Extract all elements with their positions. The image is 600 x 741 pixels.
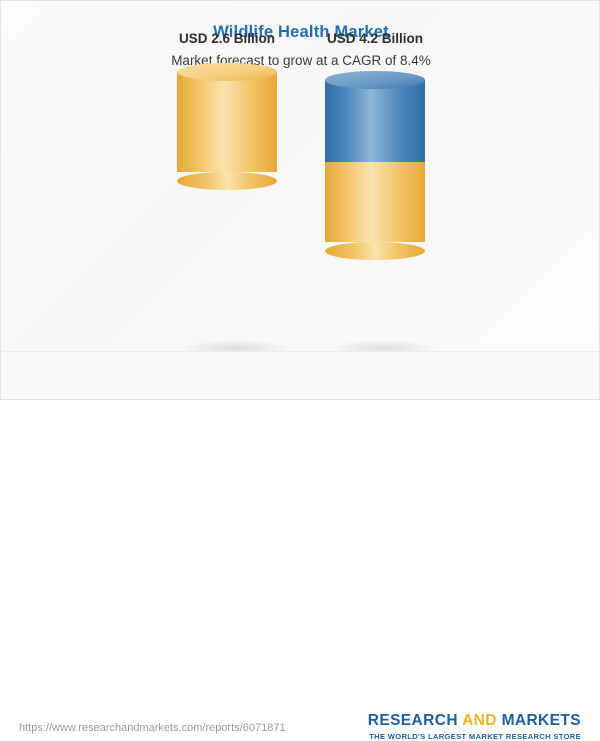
value-label-2024: USD 2.6 Billion bbox=[151, 31, 303, 46]
logo-wordmark: RESEARCH AND MARKETS bbox=[368, 712, 581, 730]
value-label-2030: USD 4.2 Billion bbox=[299, 31, 451, 46]
chart-card: Wildlife Health Market Market forecast t… bbox=[0, 0, 600, 400]
cylinder-2030-growth bbox=[325, 71, 425, 162]
plot-area: USD 2.6 Billion 2024 USD 4.2 Billion 203… bbox=[1, 1, 600, 351]
bar-group-2030: USD 4.2 Billion 2030 bbox=[325, 43, 425, 351]
cylinder-body bbox=[325, 80, 425, 162]
research-and-markets-logo[interactable]: RESEARCH AND MARKETS THE WORLD'S LARGEST… bbox=[368, 712, 581, 741]
cylinder-top-cap bbox=[177, 63, 277, 81]
cylinder-bottom-cap bbox=[325, 242, 425, 260]
bar-group-2024: USD 2.6 Billion 2024 bbox=[177, 43, 277, 351]
logo-word-and: AND bbox=[462, 712, 497, 729]
source-url-link[interactable]: https://www.researchandmarkets.com/repor… bbox=[19, 722, 286, 734]
footer: https://www.researchandmarkets.com/repor… bbox=[1, 352, 599, 399]
logo-word-markets: MARKETS bbox=[502, 712, 581, 729]
cylinder-top-cap bbox=[325, 71, 425, 89]
cylinder-bottom-cap bbox=[177, 172, 277, 190]
cylinder-body bbox=[325, 152, 425, 242]
cylinder-2024-base bbox=[177, 63, 277, 181]
cylinder-body bbox=[177, 72, 277, 172]
logo-tagline: THE WORLD'S LARGEST MARKET RESEARCH STOR… bbox=[368, 732, 581, 741]
logo-word-research: RESEARCH bbox=[368, 712, 458, 729]
